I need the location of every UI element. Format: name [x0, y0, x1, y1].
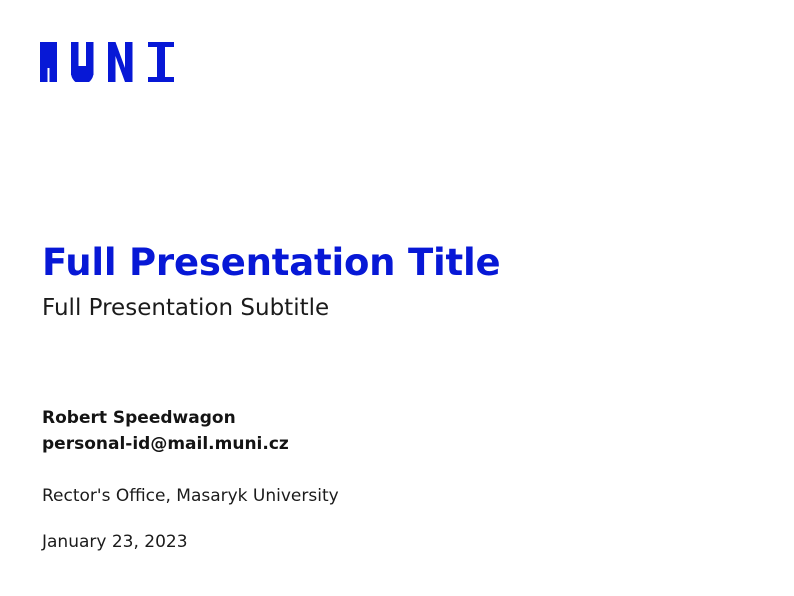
muni-logo	[40, 42, 180, 82]
author-email: personal-id@mail.muni.cz	[42, 432, 742, 458]
affiliation-text: Rector's Office, Masaryk University	[42, 485, 742, 507]
page-title: Full Presentation Title	[42, 243, 742, 282]
title-block: Full Presentation Title Full Presentatio…	[42, 243, 742, 322]
presenter-info-block: Robert Speedwagon personal-id@mail.muni.…	[42, 406, 742, 553]
title-slide: Full Presentation Title Full Presentatio…	[0, 0, 794, 596]
page-subtitle: Full Presentation Subtitle	[42, 295, 742, 321]
presentation-date: January 23, 2023	[42, 531, 742, 553]
muni-logo-icon	[40, 42, 180, 82]
author-name: Robert Speedwagon	[42, 406, 742, 432]
